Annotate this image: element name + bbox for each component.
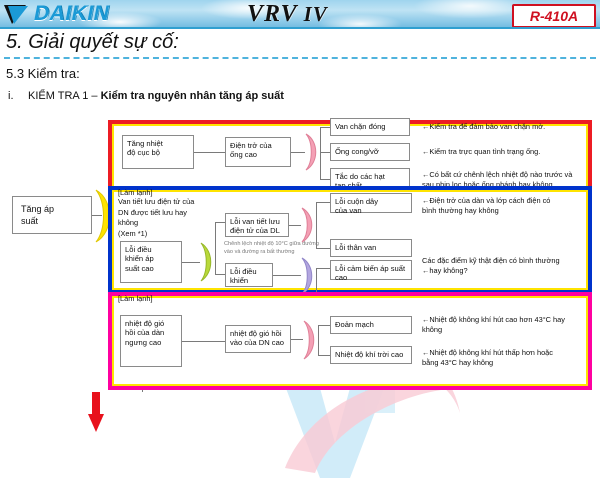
g2-mode-label: [Làm lạnh]: [118, 188, 153, 197]
g1-note-2: ←Kiểm tra trực quan tình trạng ống.: [422, 147, 597, 157]
daikin-logo: DAIKIN: [4, 2, 164, 27]
g1-note-1: ←Kiểm tra để đảm bảo van chặn mở.: [422, 122, 597, 132]
g3-leaf-link-1: [318, 325, 330, 326]
g2-note-2: Các đặc điểm kỹ thật điện có bình thường…: [422, 256, 600, 276]
g2-or-gate-icon: [198, 241, 216, 283]
g2-leaf-link-2: [316, 248, 330, 249]
list-item-text: KIỂM TRA 1 – Kiểm tra nguyên nhân tăng á…: [28, 90, 284, 102]
item-label: KIỂM TRA 1 –: [28, 90, 101, 102]
vrv-wordmark: VRVIV: [247, 1, 328, 28]
troubleshooting-diagram: Tăng áp suất Tăng nhiệt độ cục bộ Điện t…: [0, 108, 600, 408]
refrigerant-badge: R-410A: [512, 4, 596, 28]
g2-leaf-box-1: Lỗi cuộn dây của van: [330, 193, 412, 213]
g3-gate-bus: [318, 325, 319, 355]
g3-note-2: ←Nhiệt độ không khí hút thấp hơn hoặc bằ…: [422, 348, 600, 368]
g2-mid-top-box: Lỗi van tiết lưu điện tử của DL: [225, 213, 289, 237]
g1-mid-box: Điện trở của ống cao: [225, 137, 291, 167]
g1-gate-bus: [320, 127, 321, 179]
item-bold: Kiểm tra nguyên nhân tăng áp suất: [101, 90, 284, 102]
g1-leaf-link-3: [320, 179, 330, 180]
vrv-text: VRV: [247, 1, 298, 27]
g2-leaf-link-3: [316, 268, 330, 269]
daikin-wordmark: DAIKIN: [34, 2, 109, 26]
g3-leaf-box-1: Đoản mạch: [330, 316, 412, 334]
list-item-number: i.: [8, 90, 14, 102]
root-cause-box: Tăng áp suất: [12, 196, 92, 234]
g2-link-midbot-gate: [273, 275, 301, 276]
g2-leaf-box-3: Lỗi cảm biến áp suất cao: [330, 260, 412, 280]
g3-link-cause-mid: [182, 341, 225, 342]
vrv-generation: IV: [298, 2, 328, 26]
g2-mid-bottom-box: Lỗi điều khiển: [225, 263, 273, 287]
g3-note-1: ←Nhiệt độ không khí hút cao hơn 43°C hay…: [422, 315, 600, 335]
g2-cause-bottom-box: Lỗi điều khiển áp suất cao: [120, 241, 182, 283]
g2-or-gate-upper-icon: [299, 206, 317, 244]
g1-link-cause-mid: [194, 152, 225, 153]
page-title: 5. Giải quyết sự cố:: [6, 31, 179, 54]
g1-leaf-box-1: Van chặn đóng: [330, 118, 410, 136]
g3-or-gate-icon: [301, 319, 319, 361]
g2-note-1: ←Điện trở của dàn và lớp cách điện có bì…: [422, 196, 600, 216]
g2-mid-link-top: [215, 222, 225, 223]
g3-mid-box: nhiệt độ gió hồi vào của DN cao: [225, 325, 291, 353]
g2-leaf-box-2: Lỗi thân van: [330, 239, 412, 257]
g1-or-gate-icon: [303, 132, 321, 172]
root-connector: [92, 215, 102, 216]
g3-leaf-box-2: Nhiệt độ khí trời cao: [330, 346, 412, 364]
page-header: DAIKIN VRVIV R-410A: [0, 0, 600, 29]
g2-upper-bus: [316, 202, 317, 248]
next-step-down-arrow-icon: [88, 392, 104, 432]
g2-mid-link-bottom: [215, 274, 225, 275]
daikin-triangle-mark: [4, 4, 32, 25]
g2-gate-bus: [215, 222, 216, 274]
g3-mode-label: [Làm lạnh]: [118, 294, 153, 303]
g2-or-gate-lower-icon: [299, 256, 317, 296]
g1-leaf-link-2: [320, 152, 330, 153]
g1-cause-box: Tăng nhiệt độ cục bộ: [122, 135, 194, 169]
g1-leaf-box-2: Ống cong/vỡ: [330, 143, 410, 161]
section-title: 5.3 Kiểm tra:: [6, 66, 80, 81]
g1-leaf-link-1: [320, 127, 330, 128]
header-underline: [0, 27, 600, 29]
g3-cause-box: nhiệt độ gió hồi của dàn ngưng cao: [120, 315, 182, 367]
g2-cause-top-text: Van tiết lưu điện tử của DN được tiết lư…: [118, 197, 218, 240]
g3-leaf-link-2: [318, 355, 330, 356]
g2-leaf-link-1: [316, 202, 330, 203]
title-divider: [4, 57, 596, 59]
